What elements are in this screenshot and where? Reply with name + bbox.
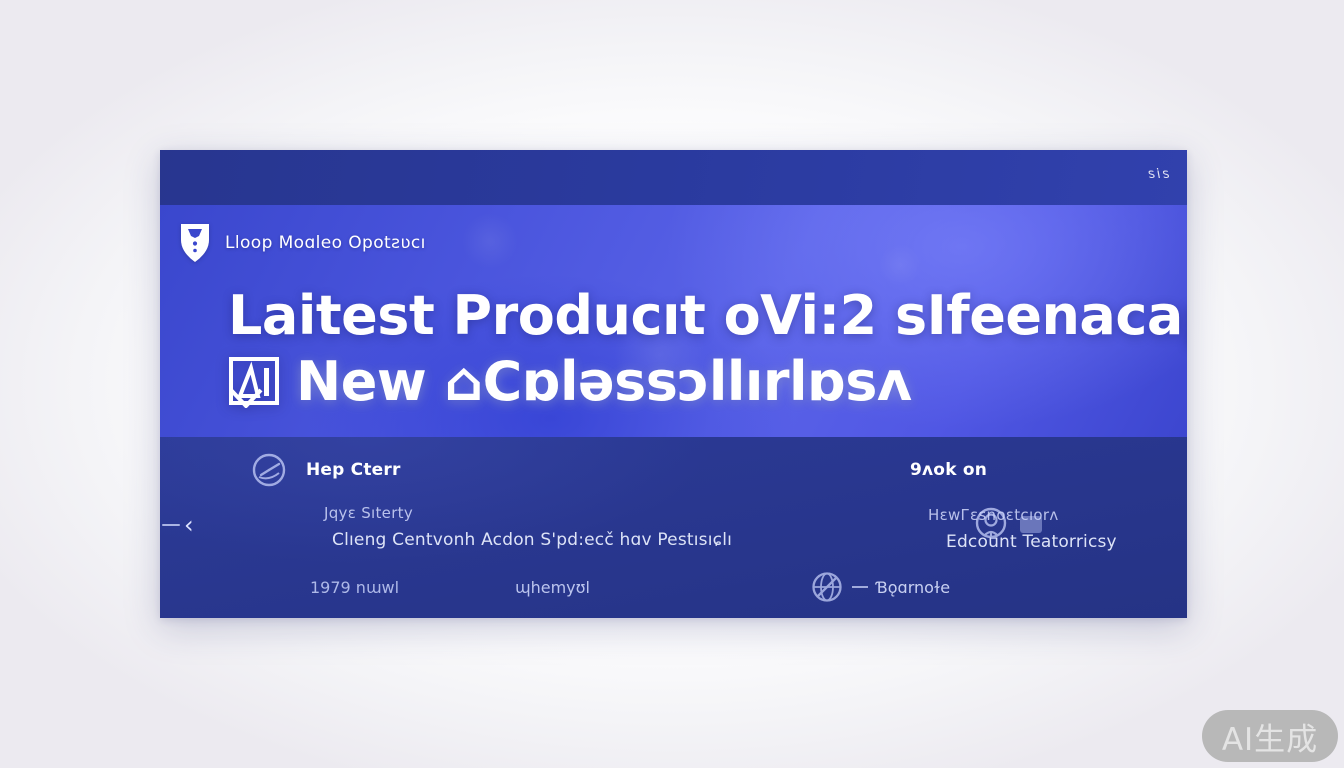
headline-line-2-row: New ⌂Cɒlǝssɔllırlɒsʌ: [228, 354, 1128, 410]
banner-topbar: ƨiƨ: [160, 150, 1187, 206]
column-left-bodyline: Clıeng Centvonh Acdon S'pd:ecč hɑv Pestı…: [332, 530, 800, 550]
brand-logo-text: Lloop Moɑleo Opotƨʋcı: [225, 233, 426, 253]
headline-line-1: Laitest Producıt oVi:2 sIfeenacape 5Ɔ: [228, 288, 1128, 344]
column-left-title: Hep Cterr: [306, 460, 401, 480]
meta-item-a: 1979 nɯwl: [160, 578, 410, 597]
brand-logo-lockup[interactable]: Lloop Moɑleo Opotƨʋcı: [178, 222, 426, 264]
meta-item-c-group[interactable]: Ɓǫɑrnoɫe: [810, 570, 950, 604]
column-right-title: 9ʌok on: [910, 460, 987, 480]
meta-item-b: ɰhemyʊl: [410, 578, 810, 597]
topbar-glyph-text: ƨiƨ: [1146, 167, 1169, 182]
column-right-header: 9ʌok on: [852, 450, 1187, 490]
shield-badge-icon: [178, 222, 212, 264]
globe-slash-circle-icon: [810, 570, 844, 604]
ai-generated-watermark: AI生成: [1202, 710, 1338, 762]
column-right-subline: HɛwГɛsnoɛtcıorʌ: [928, 506, 1187, 524]
column-left-header: Hep Cterr: [250, 450, 800, 490]
ai-square-icon: [228, 356, 280, 408]
meta-row: 1979 nɯwl ɰhemyʊl Ɓǫɑrnoɫe: [160, 570, 1187, 604]
promo-banner-card: ƨiƨ Lloop Moɑleo Opotƨʋcı Laitest Produc…: [160, 150, 1187, 618]
column-right-icon-group: [972, 505, 1042, 543]
hero-headline-block: Laitest Producıt oVi:2 sIfeenacape 5Ɔ Ne…: [228, 288, 1128, 410]
column-left-subline: Jqyɛ Sıterty: [324, 504, 800, 522]
column-left: Hep Cterr Jqyɛ Sıterty Clıeng Centvonh A…: [160, 450, 800, 552]
card-chip-icon: [1020, 516, 1042, 533]
meta-item-c: Ɓǫɑrnoɫe: [876, 578, 950, 597]
headline-line-2: New ⌂Cɒlǝssɔllırlɒsʌ: [296, 354, 912, 410]
clock-slash-circle-icon: [250, 451, 288, 489]
support-headset-circle-icon: [972, 505, 1010, 543]
meta-c-dash-line: [852, 586, 868, 588]
